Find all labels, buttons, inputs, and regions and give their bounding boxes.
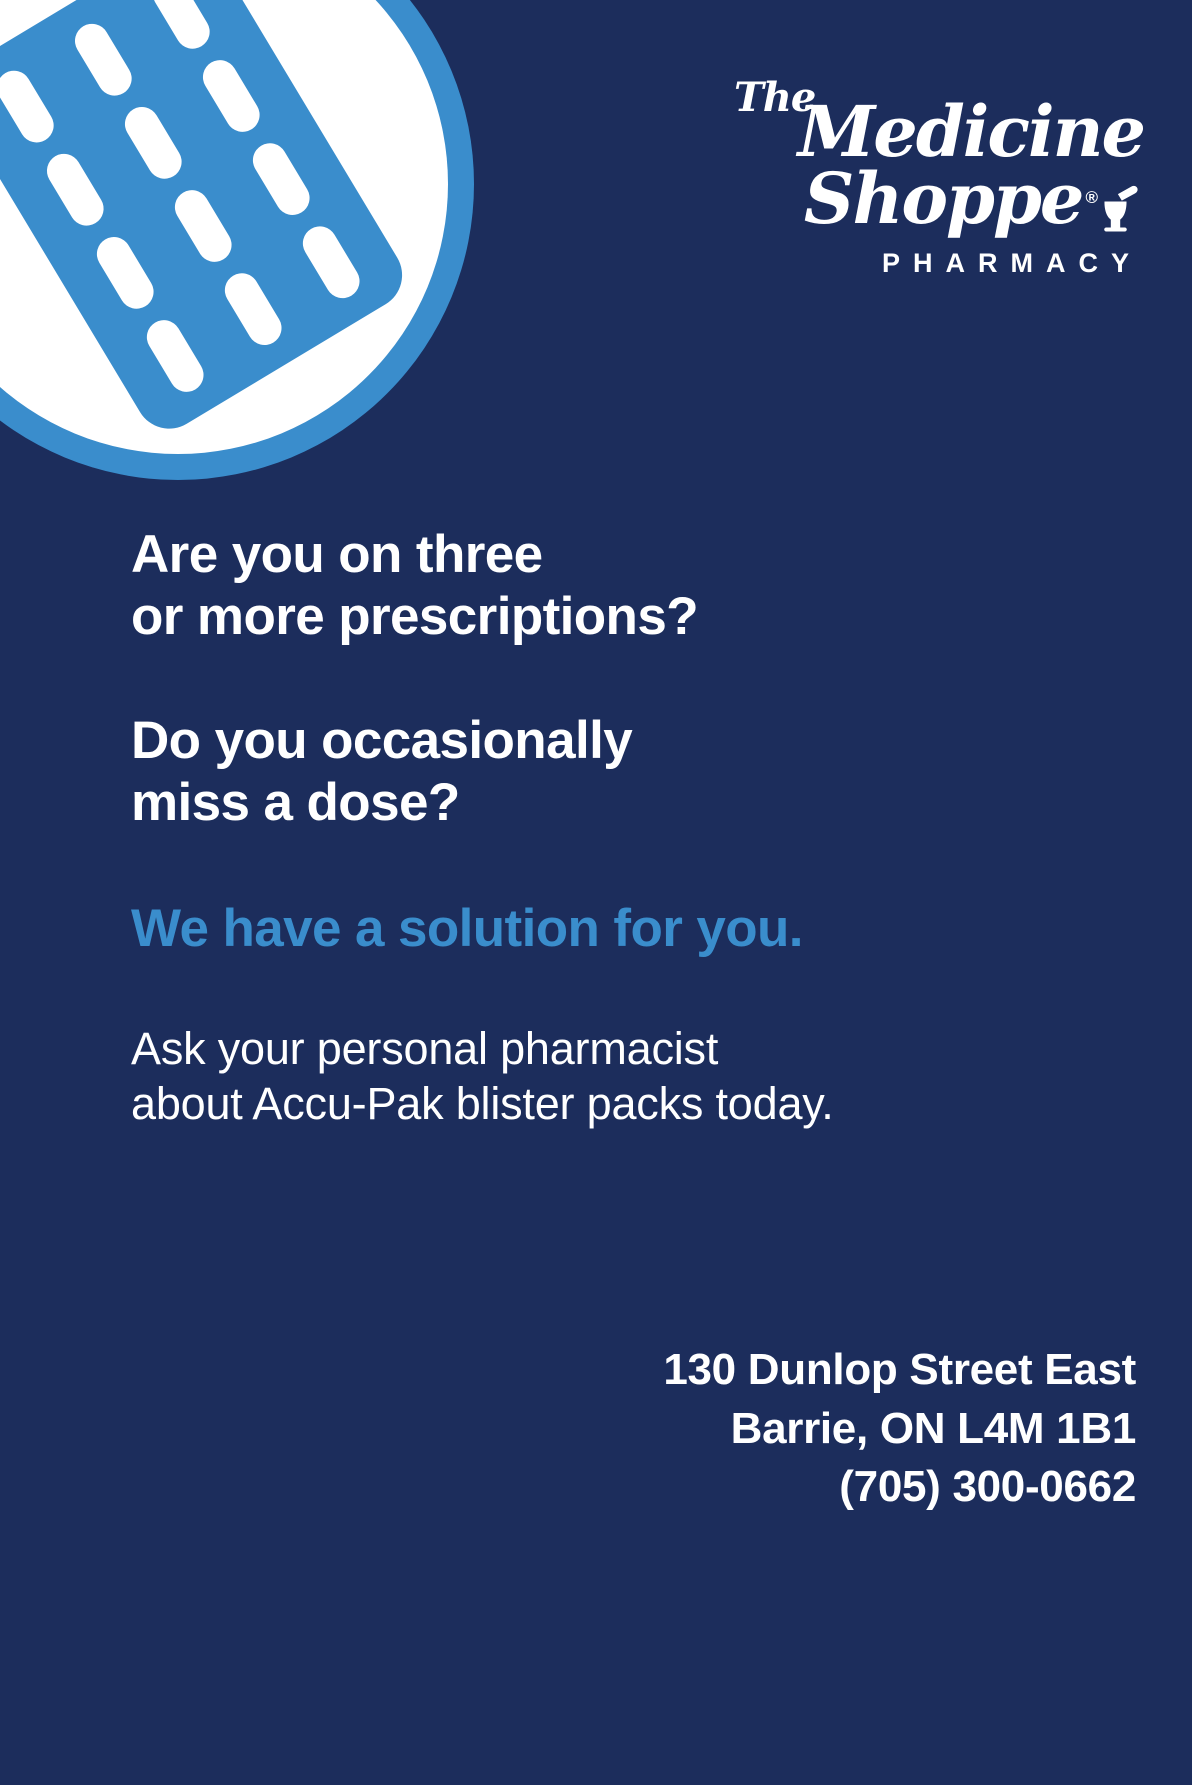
body-copy: Ask your personal pharmacist about Accu-… <box>131 1022 1031 1132</box>
headline-secondary: Do you occasionally miss a dose? <box>131 710 1031 834</box>
headline-primary: Are you on three or more prescriptions? <box>131 524 1031 648</box>
logo-wordmark: The Medicine Shoppe ® <box>724 78 1144 236</box>
blister-pack-badge <box>0 0 474 480</box>
body-copy-line-1: Ask your personal pharmacist <box>131 1022 1031 1077</box>
pill-capsule <box>0 64 60 148</box>
headline-primary-line-2: or more prescriptions? <box>131 586 1031 648</box>
pill-capsule <box>168 183 237 267</box>
logo-word-shoppe: Shoppe <box>804 163 1083 236</box>
tagline: We have a solution for you. <box>131 898 1031 960</box>
pill-capsule <box>218 267 287 351</box>
pill-capsule <box>141 313 210 397</box>
pill-capsule <box>118 100 187 184</box>
headline-secondary-line-1: Do you occasionally <box>131 710 1031 772</box>
headline-secondary-line-2: miss a dose? <box>131 772 1031 834</box>
address-street: 130 Dunlop Street East <box>663 1341 1136 1400</box>
pill-capsule <box>146 0 215 55</box>
body-copy-line-2: about Accu-Pak blister packs today. <box>131 1077 1031 1132</box>
pill-capsule <box>196 54 265 138</box>
pill-capsule <box>246 137 315 221</box>
registered-trademark-icon: ® <box>1085 189 1098 206</box>
blister-pack-body <box>0 0 415 441</box>
store-contact-block: 130 Dunlop Street East Barrie, ON L4M 1B… <box>663 1341 1136 1517</box>
address-city-province-postal: Barrie, ON L4M 1B1 <box>663 1400 1136 1459</box>
phone-number[interactable]: (705) 300-0662 <box>663 1458 1136 1517</box>
pill-capsule <box>68 17 137 101</box>
brand-logo: The Medicine Shoppe ® PHARMACY <box>724 78 1144 279</box>
logo-shoppe-row: Shoppe ® <box>724 163 1144 236</box>
pill-capsule <box>296 220 365 304</box>
pill-capsule <box>91 230 160 314</box>
mortar-and-pestle-icon <box>1100 184 1144 234</box>
copy-block: Are you on three or more prescriptions? … <box>131 524 1031 1132</box>
logo-word-pharmacy: PHARMACY <box>724 248 1144 279</box>
headline-primary-line-1: Are you on three <box>131 524 1031 586</box>
logo-word-the: The <box>734 78 1144 118</box>
pill-capsule <box>41 147 110 231</box>
pharmacy-promo-poster: The Medicine Shoppe ® PHARMACY Are you o… <box>0 0 1192 1785</box>
